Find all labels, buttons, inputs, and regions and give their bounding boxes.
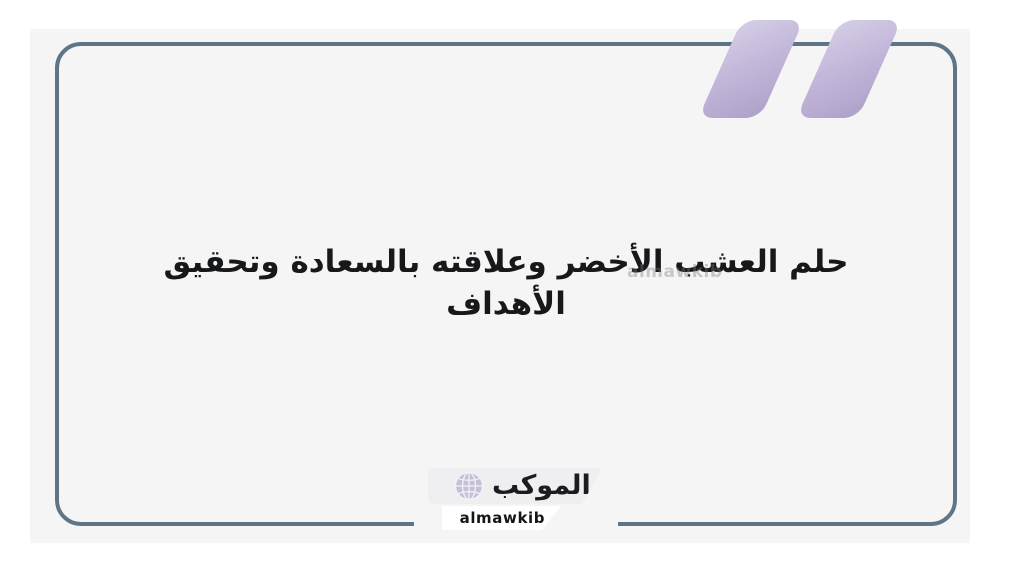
card-frame-border [55, 42, 957, 526]
brand-logo[interactable]: الموكب almawkib [428, 468, 603, 530]
globe-icon [454, 471, 484, 501]
quote-card-canvas: حلم العشب الأخضر وعلاقته بالسعادة وتحقيق… [0, 0, 1024, 576]
brand-logo-primary: الموكب [428, 468, 603, 504]
brand-name-latin: almawkib [460, 509, 546, 527]
brand-name-arabic: الموكب [492, 472, 591, 501]
brand-logo-secondary: almawkib [442, 506, 562, 530]
